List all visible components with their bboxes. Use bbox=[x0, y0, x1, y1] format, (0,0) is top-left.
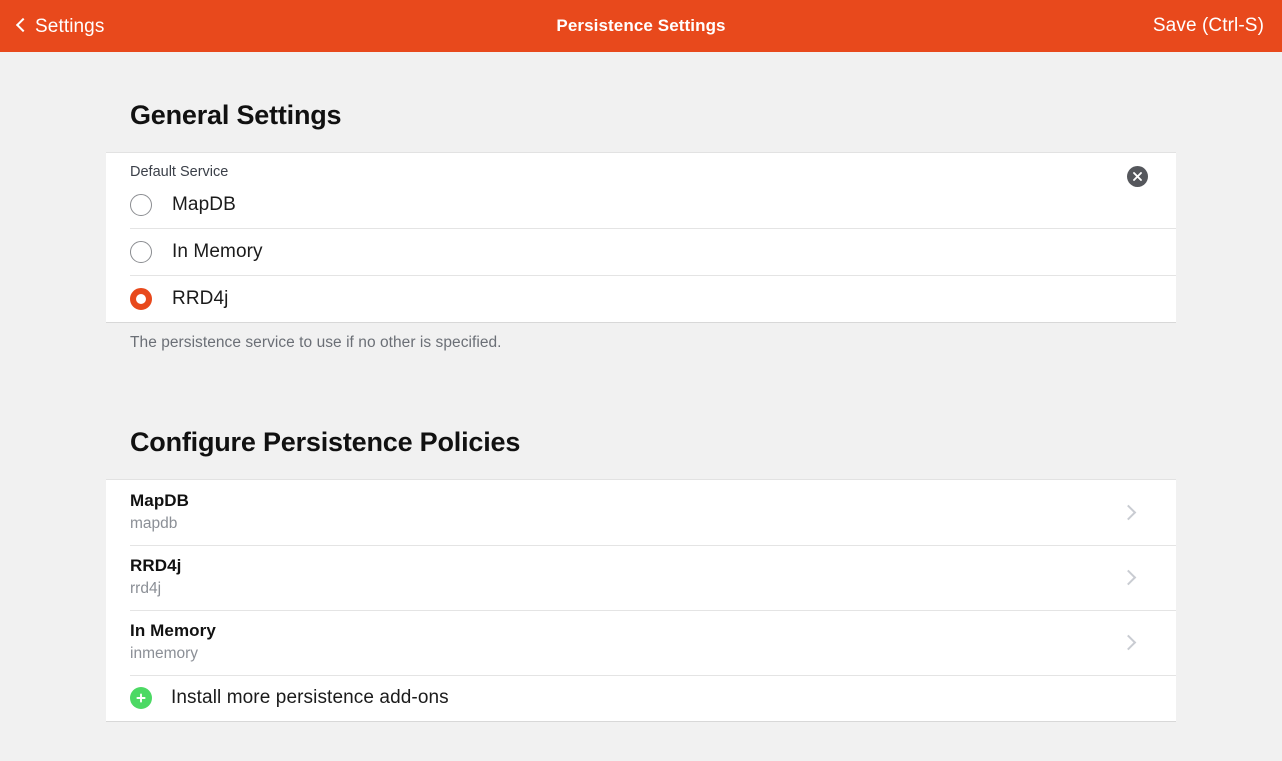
radio-indicator bbox=[130, 241, 152, 263]
list-item-in-memory[interactable]: In Memory inmemory bbox=[106, 610, 1176, 675]
page-body: General Settings Default Service MapDB I… bbox=[0, 52, 1282, 761]
radio-option-in-memory[interactable]: In Memory bbox=[106, 228, 1176, 275]
back-button-label: Settings bbox=[35, 17, 104, 36]
list-item-mapdb[interactable]: MapDB mapdb bbox=[106, 480, 1176, 545]
policy-id: inmemory bbox=[130, 644, 216, 665]
app-header: Settings Persistence Settings Save (Ctrl… bbox=[0, 0, 1282, 52]
chevron-right-icon bbox=[1121, 505, 1137, 521]
policy-name: MapDB bbox=[130, 490, 189, 513]
chevron-right-icon bbox=[1121, 570, 1137, 586]
policy-id: mapdb bbox=[130, 514, 189, 535]
content-container: General Settings Default Service MapDB I… bbox=[106, 52, 1176, 722]
policy-text-block: In Memory inmemory bbox=[130, 620, 216, 665]
install-addons-button[interactable]: Install more persistence add-ons bbox=[106, 675, 1176, 721]
radio-option-mapdb[interactable]: MapDB bbox=[106, 181, 1176, 228]
radio-indicator bbox=[130, 194, 152, 216]
persistence-policies-heading: Configure Persistence Policies bbox=[106, 427, 1176, 458]
radio-option-rrd4j[interactable]: RRD4j bbox=[106, 275, 1176, 322]
plus-circle-icon bbox=[130, 687, 152, 709]
list-item-rrd4j[interactable]: RRD4j rrd4j bbox=[106, 545, 1176, 610]
section-spacer bbox=[106, 352, 1176, 427]
install-addons-label: Install more persistence add-ons bbox=[171, 687, 449, 709]
policy-name: In Memory bbox=[130, 620, 216, 643]
radio-option-label: In Memory bbox=[172, 241, 263, 263]
persistence-policies-card: MapDB mapdb RRD4j rrd4j In Memory inmemo… bbox=[106, 479, 1176, 722]
policy-id: rrd4j bbox=[130, 579, 182, 600]
radio-option-label: MapDB bbox=[172, 194, 236, 216]
policy-text-block: RRD4j rrd4j bbox=[130, 555, 182, 600]
policy-name: RRD4j bbox=[130, 555, 182, 578]
radio-indicator-selected bbox=[130, 288, 152, 310]
general-settings-heading: General Settings bbox=[106, 100, 1176, 131]
radio-option-label: RRD4j bbox=[172, 288, 228, 310]
page-title: Persistence Settings bbox=[0, 16, 1282, 36]
chevron-right-icon bbox=[1121, 635, 1137, 651]
back-button[interactable]: Settings bbox=[18, 17, 104, 36]
chevron-left-icon bbox=[16, 18, 30, 32]
general-settings-card: Default Service MapDB In Memory RRD4j bbox=[106, 152, 1176, 323]
policy-text-block: MapDB mapdb bbox=[130, 490, 189, 535]
default-service-help-text: The persistence service to use if no oth… bbox=[106, 323, 1176, 352]
save-button[interactable]: Save (Ctrl-S) bbox=[1153, 15, 1264, 37]
default-service-label: Default Service bbox=[106, 153, 1176, 181]
